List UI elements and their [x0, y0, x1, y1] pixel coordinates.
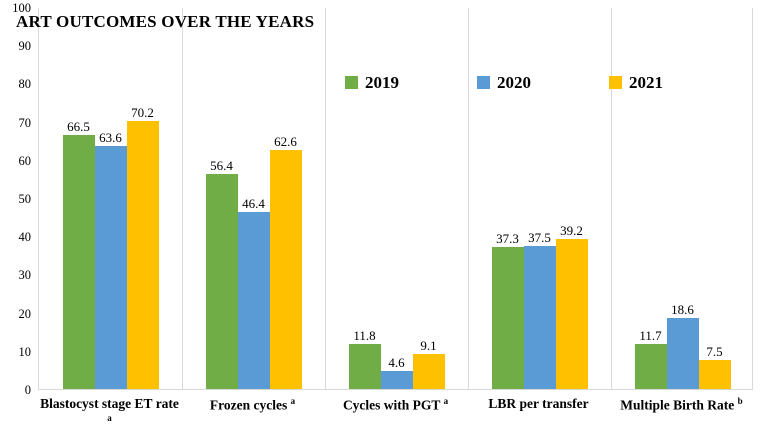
bar-2021[interactable]: 70.2 [127, 121, 159, 389]
legend-item-2021[interactable]: 2021 [609, 74, 663, 91]
bar-group: 37.337.539.2 [468, 8, 611, 389]
x-axis-footnote-marker: a [444, 396, 449, 406]
legend-item-label: 2020 [497, 74, 531, 91]
bar-group: 11.84.69.1 [325, 8, 468, 389]
y-axis-tick-label: 50 [19, 193, 32, 206]
bar-2020[interactable]: 63.6 [95, 146, 127, 389]
bar-value-label: 39.2 [560, 224, 583, 237]
bar-2020[interactable]: 18.6 [667, 318, 699, 389]
y-axis-tick-label: 30 [19, 269, 32, 282]
bar-2019[interactable]: 11.7 [635, 344, 667, 389]
bar-2019[interactable]: 37.3 [492, 247, 524, 389]
y-axis-tick-label: 20 [19, 307, 32, 320]
bar-2020[interactable]: 37.5 [524, 246, 556, 389]
legend-swatch-icon [477, 76, 490, 89]
x-axis-category-label: Blastocyst stage ET rate a [38, 396, 181, 431]
bar-2020[interactable]: 46.4 [238, 212, 270, 389]
legend-item-label: 2019 [365, 74, 399, 91]
x-axis-category-text: Cycles with PGT [343, 398, 440, 413]
bar-group: 11.718.67.5 [611, 8, 754, 389]
legend-swatch-icon [609, 76, 622, 89]
bar-group: 66.563.670.2 [39, 8, 182, 389]
bar-2021[interactable]: 62.6 [270, 150, 302, 389]
bar-value-label: 46.4 [242, 197, 265, 210]
y-axis-tick-label: 70 [19, 116, 32, 129]
bar-value-label: 7.5 [706, 345, 722, 358]
chart-legend: 201920202021 [345, 74, 663, 91]
bar-value-label: 56.4 [210, 159, 233, 172]
y-axis: 0102030405060708090100 [0, 0, 38, 443]
bar-value-label: 4.6 [388, 356, 404, 369]
bar-value-label: 63.6 [99, 131, 122, 144]
legend-item-label: 2021 [629, 74, 663, 91]
y-axis-tick-label: 80 [19, 78, 32, 91]
x-axis-category-label: LBR per transfer [467, 396, 610, 413]
y-axis-tick-label: 0 [25, 384, 31, 397]
x-axis-category-label: Cycles with PGT a [324, 396, 467, 414]
chart-title: ART OUTCOMES OVER THE YEARS [16, 12, 314, 32]
bar-2020[interactable]: 4.6 [381, 371, 413, 389]
bar-value-label: 37.5 [528, 231, 551, 244]
bar-value-label: 62.6 [274, 135, 297, 148]
x-axis-category-text: Blastocyst stage ET rate [40, 396, 179, 411]
bar-2021[interactable]: 7.5 [699, 360, 731, 389]
x-axis-category-label: Multiple Birth Rate b [610, 396, 753, 414]
plot-area: 66.563.670.256.446.462.611.84.69.137.337… [38, 8, 753, 390]
bar-chart: 0102030405060708090100 66.563.670.256.44… [0, 0, 763, 443]
bar-2021[interactable]: 9.1 [413, 354, 445, 389]
bar-value-label: 70.2 [131, 106, 154, 119]
legend-item-2020[interactable]: 2020 [477, 74, 531, 91]
x-axis-category-label: Frozen cycles a [181, 396, 324, 414]
legend-swatch-icon [345, 76, 358, 89]
x-axis-category-text: LBR per transfer [488, 396, 588, 411]
bar-2021[interactable]: 39.2 [556, 239, 588, 389]
x-axis-category-text: Multiple Birth Rate [620, 398, 734, 413]
bar-value-label: 11.8 [353, 329, 375, 342]
legend-item-2019[interactable]: 2019 [345, 74, 399, 91]
bar-2019[interactable]: 56.4 [206, 174, 238, 389]
x-axis: Blastocyst stage ET rate aFrozen cycles … [38, 396, 753, 443]
y-axis-tick-label: 10 [19, 346, 32, 359]
y-axis-tick-label: 90 [19, 40, 32, 53]
bar-value-label: 66.5 [67, 120, 90, 133]
bar-2019[interactable]: 66.5 [63, 135, 95, 389]
y-axis-tick-label: 40 [19, 231, 32, 244]
bar-value-label: 18.6 [671, 303, 694, 316]
x-axis-footnote-marker: a [291, 396, 296, 406]
x-axis-category-text: Frozen cycles [210, 398, 287, 413]
bar-2019[interactable]: 11.8 [349, 344, 381, 389]
bar-value-label: 9.1 [420, 339, 436, 352]
x-axis-footnote-marker: a [107, 413, 112, 423]
bar-value-label: 11.7 [639, 329, 661, 342]
y-axis-tick-label: 60 [19, 155, 32, 168]
x-axis-footnote-marker: b [738, 396, 743, 406]
bar-group: 56.446.462.6 [182, 8, 325, 389]
bar-value-label: 37.3 [496, 232, 519, 245]
